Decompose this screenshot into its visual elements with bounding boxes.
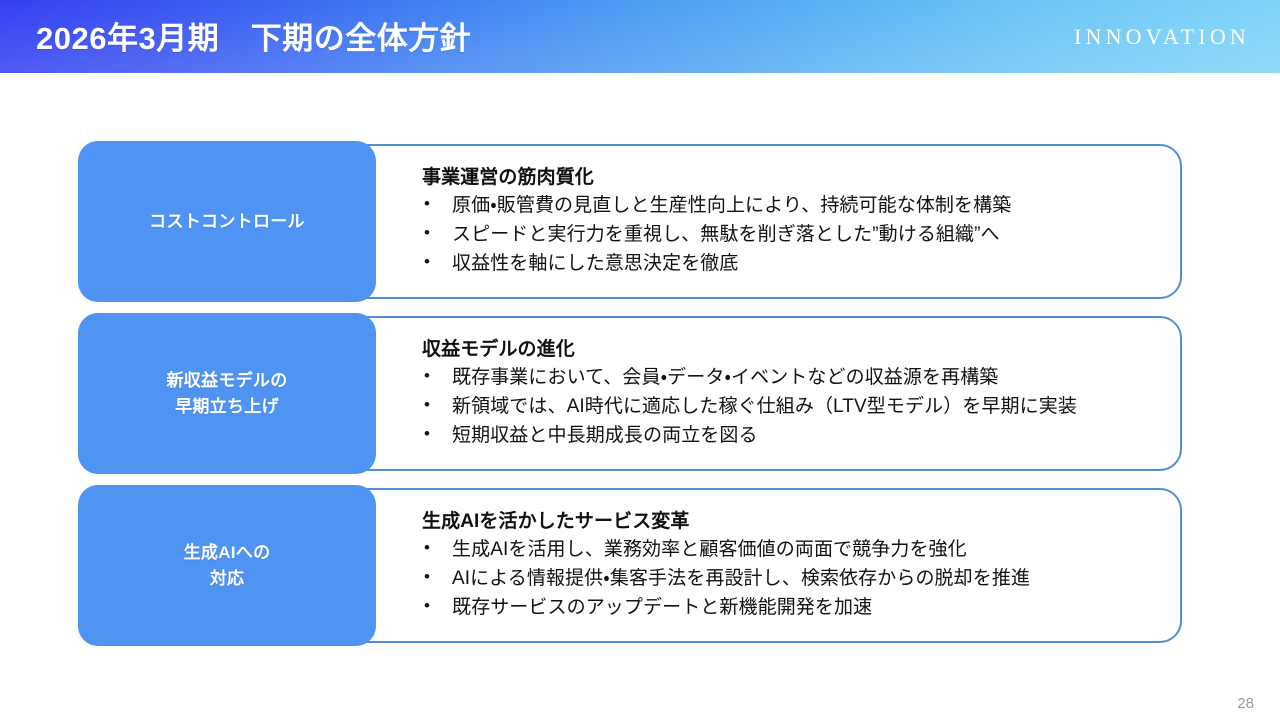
policy-bullet-list: 生成AIを活用し、業務効率と顧客価値の両面で競争力を強化 AIによる情報提供・集… xyxy=(422,536,1182,623)
list-item: 原価・販管費の見直しと生産性向上により、持続可能な体制を構築 xyxy=(422,192,1182,221)
policy-bullet-list: 既存事業において、会員・データ・イベントなどの収益源を再構築 新領域では、AI時… xyxy=(422,364,1182,451)
policy-chip-label: 生成AIへの 対応 xyxy=(184,540,271,591)
policy-heading: 生成AIを活かしたサービス変革 xyxy=(422,510,1182,534)
policy-row: 生成AIを活かしたサービス変革 生成AIを活用し、業務効率と顧客価値の両面で競争… xyxy=(78,485,1182,645)
policy-bullet-list: 原価・販管費の見直しと生産性向上により、持続可能な体制を構築 スピードと実行力を… xyxy=(422,192,1182,279)
list-item: 既存サービスのアップデートと新機能開発を加速 xyxy=(422,594,1182,623)
policy-heading: 事業運営の筋肉質化 xyxy=(422,166,1182,190)
policy-chip-label: コストコントロール xyxy=(149,209,305,235)
page-title: 2026年3月期 下期の全体方針 xyxy=(36,13,471,58)
policy-row-body: 収益モデルの進化 既存事業において、会員・データ・イベントなどの収益源を再構築 … xyxy=(422,338,1182,451)
policy-rows-container: 事業運営の筋肉質化 原価・販管費の見直しと生産性向上により、持続可能な体制を構築… xyxy=(78,141,1182,657)
page-number: 28 xyxy=(1237,695,1254,712)
list-item: スピードと実行力を重視し、無駄を削ぎ落とした”動ける組織”へ xyxy=(422,221,1182,250)
policy-row-body: 事業運営の筋肉質化 原価・販管費の見直しと生産性向上により、持続可能な体制を構築… xyxy=(422,166,1182,279)
policy-row: 事業運営の筋肉質化 原価・販管費の見直しと生産性向上により、持続可能な体制を構築… xyxy=(78,141,1182,301)
list-item: 新領域では、AI時代に適応した稼ぐ仕組み（LTV型モデル）を早期に実装 xyxy=(422,393,1182,422)
innovation-logo: INNOVATION xyxy=(1074,24,1250,50)
policy-chip-label: 新収益モデルの 早期立ち上げ xyxy=(166,368,287,419)
list-item: 収益性を軸にした意思決定を徹底 xyxy=(422,250,1182,279)
list-item: 既存事業において、会員・データ・イベントなどの収益源を再構築 xyxy=(422,364,1182,393)
list-item: 生成AIを活用し、業務効率と顧客価値の両面で競争力を強化 xyxy=(422,536,1182,565)
policy-row-body: 生成AIを活かしたサービス変革 生成AIを活用し、業務効率と顧客価値の両面で競争… xyxy=(422,510,1182,623)
policy-category-chip-new-revenue-model: 新収益モデルの 早期立ち上げ xyxy=(78,313,376,474)
policy-row: 収益モデルの進化 既存事業において、会員・データ・イベントなどの収益源を再構築 … xyxy=(78,313,1182,473)
policy-heading: 収益モデルの進化 xyxy=(422,338,1182,362)
list-item: 短期収益と中長期成長の両立を図る xyxy=(422,422,1182,451)
slide-header-band: 2026年3月期 下期の全体方針 INNOVATION xyxy=(0,0,1280,73)
list-item: AIによる情報提供・集客手法を再設計し、検索依存からの脱却を推進 xyxy=(422,565,1182,594)
policy-category-chip-generative-ai: 生成AIへの 対応 xyxy=(78,485,376,646)
policy-category-chip-cost-control: コストコントロール xyxy=(78,141,376,302)
